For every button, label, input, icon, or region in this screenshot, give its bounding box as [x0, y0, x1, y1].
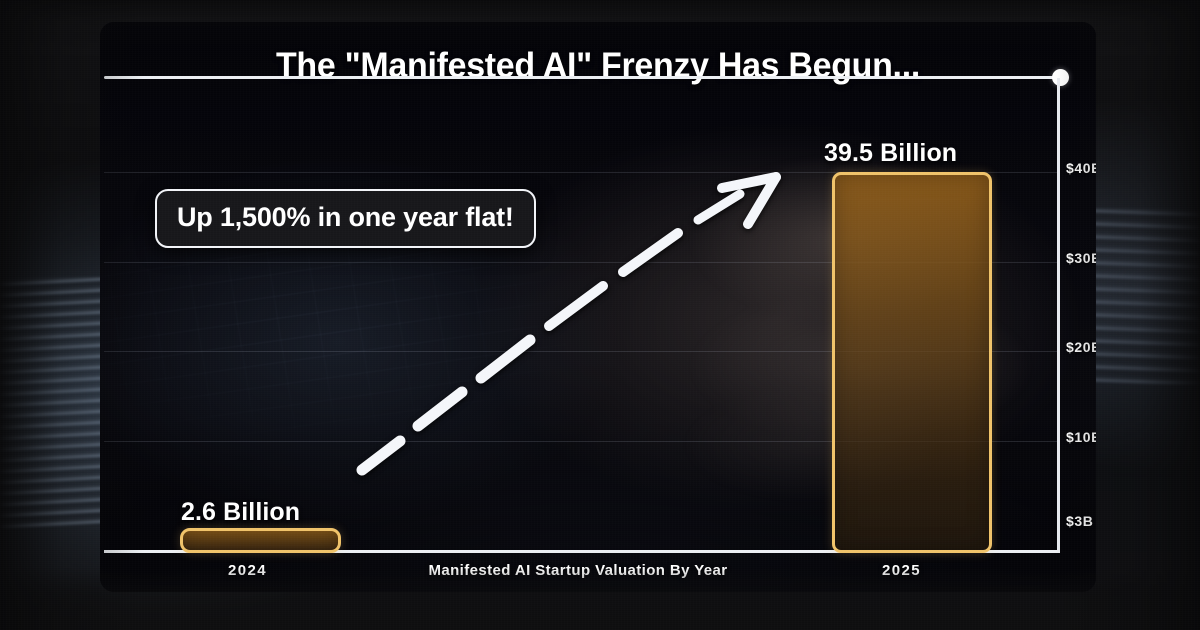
- ytick-10b: $10B: [1066, 429, 1096, 445]
- ytick-3b: $3B: [1066, 513, 1093, 529]
- ytick-20b: $20B: [1066, 339, 1096, 355]
- bar-2024[interactable]: [180, 528, 341, 553]
- infographic-canvas: The "Manifested AI" Frenzy Has Begun... …: [0, 0, 1200, 630]
- top-rule: [104, 76, 1059, 79]
- chart-title: The "Manifested AI" Frenzy Has Begun...: [115, 46, 1081, 86]
- axis-endpoint-dot: [1052, 69, 1069, 86]
- y-axis-line: [1057, 78, 1060, 552]
- ytick-30b: $30B: [1066, 250, 1096, 266]
- bar-value-2025: 39.5 Billion: [824, 139, 957, 168]
- bar-value-2024: 2.6 Billion: [181, 498, 300, 527]
- bar-2025[interactable]: [832, 172, 992, 553]
- ytick-40b: $40B: [1066, 160, 1096, 176]
- x-axis-title: Manifested AI Startup Valuation By Year: [100, 562, 1056, 579]
- callout-badge: Up 1,500% in one year flat!: [155, 189, 536, 248]
- chart-card: The "Manifested AI" Frenzy Has Begun... …: [100, 22, 1096, 592]
